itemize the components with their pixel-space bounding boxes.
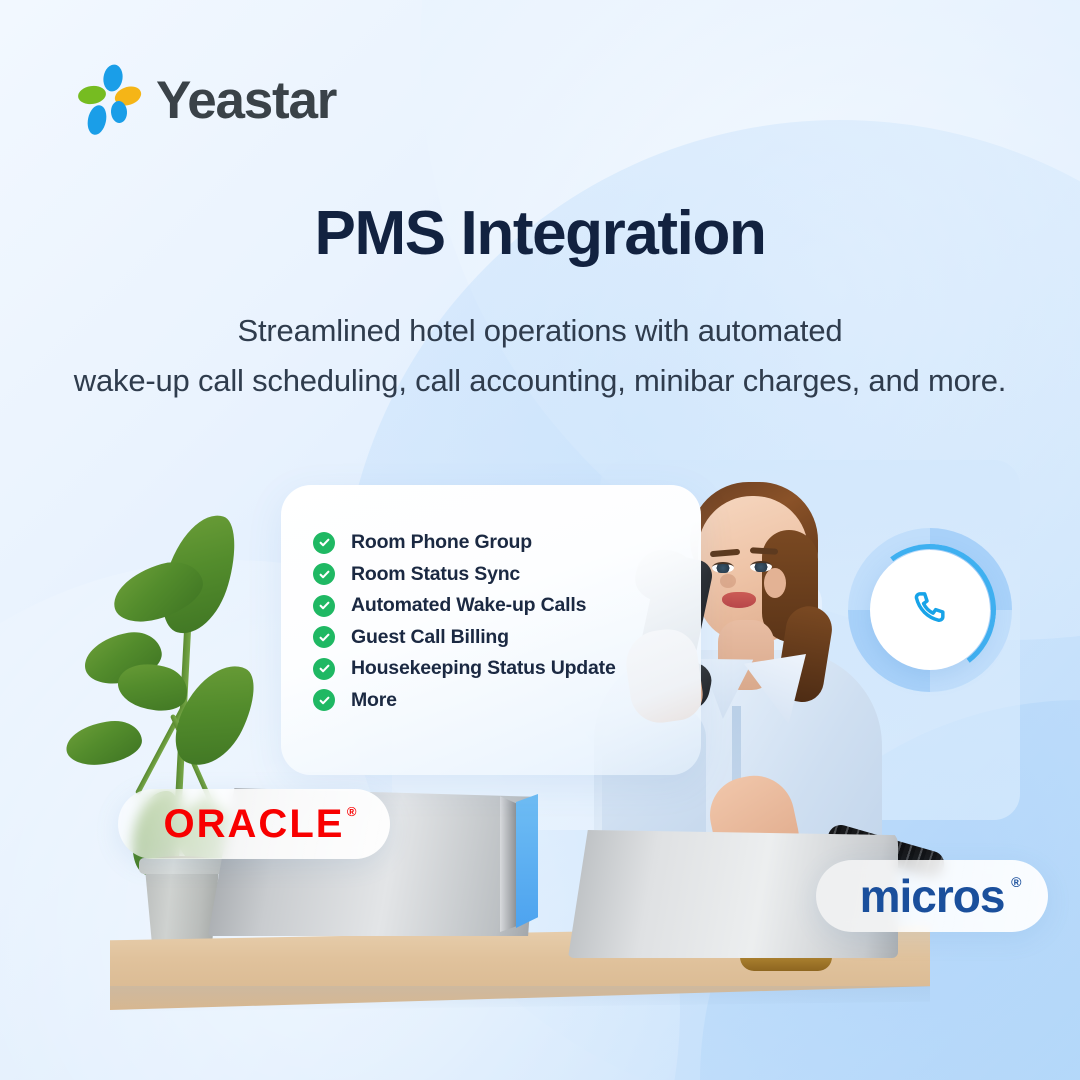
list-item[interactable]: Housekeeping Status Update xyxy=(313,653,701,685)
call-badge[interactable] xyxy=(870,550,990,670)
list-item-label: Room Status Sync xyxy=(351,563,520,586)
check-circle-icon xyxy=(313,563,335,585)
list-item[interactable]: Automated Wake-up Calls xyxy=(313,590,701,622)
feature-list-card: Room Phone Group Room Status Sync Automa… xyxy=(281,485,701,775)
list-item-label: More xyxy=(351,689,397,712)
phone-handset-icon xyxy=(908,588,952,632)
registered-trademark-icon: ® xyxy=(347,805,359,818)
call-decoration-ring xyxy=(848,528,1012,692)
partner-badge-oracle[interactable]: ORACLE ® xyxy=(118,789,390,859)
oracle-wordmark: ORACLE xyxy=(164,802,345,846)
check-circle-icon xyxy=(313,532,335,554)
check-circle-icon xyxy=(313,626,335,648)
list-item[interactable]: Room Status Sync xyxy=(313,559,701,591)
list-item[interactable]: More xyxy=(313,685,701,717)
list-item[interactable]: Guest Call Billing xyxy=(313,622,701,654)
person-ear xyxy=(764,568,786,598)
list-item-label: Housekeeping Status Update xyxy=(351,657,616,680)
check-circle-icon xyxy=(313,595,335,617)
laptop-left-screen xyxy=(516,794,538,928)
check-circle-icon xyxy=(313,689,335,711)
page-subtitle: Streamlined hotel operations with automa… xyxy=(0,306,1080,406)
plant-leaf-6 xyxy=(64,718,144,768)
list-item-label: Automated Wake-up Calls xyxy=(351,594,586,617)
subtitle-line-2: wake-up call scheduling, call accounting… xyxy=(0,356,1080,406)
person-lips xyxy=(722,592,756,608)
registered-trademark-icon: ® xyxy=(1011,875,1020,889)
subtitle-line-1: Streamlined hotel operations with automa… xyxy=(0,306,1080,356)
person-eye-right xyxy=(750,561,772,572)
laptop-left-edge xyxy=(500,792,516,932)
desk-shadow xyxy=(110,986,930,1012)
plant-pot-rim xyxy=(139,858,225,874)
person-nose xyxy=(720,574,736,588)
person-eye-left xyxy=(712,562,734,573)
check-circle-icon xyxy=(313,658,335,680)
yeastar-pinwheel-icon xyxy=(76,64,142,136)
list-item-label: Room Phone Group xyxy=(351,531,532,554)
list-item-label: Guest Call Billing xyxy=(351,626,509,649)
list-item[interactable]: Room Phone Group xyxy=(313,527,701,559)
brand-logo[interactable]: Yeastar xyxy=(76,64,336,136)
partner-badge-micros[interactable]: micros ® xyxy=(816,860,1048,932)
promo-banner: Yeastar PMS Integration Streamlined hote… xyxy=(0,0,1080,1080)
brand-wordmark: Yeastar xyxy=(156,74,336,127)
page-title: PMS Integration xyxy=(0,198,1080,269)
micros-wordmark: micros xyxy=(860,870,1005,922)
